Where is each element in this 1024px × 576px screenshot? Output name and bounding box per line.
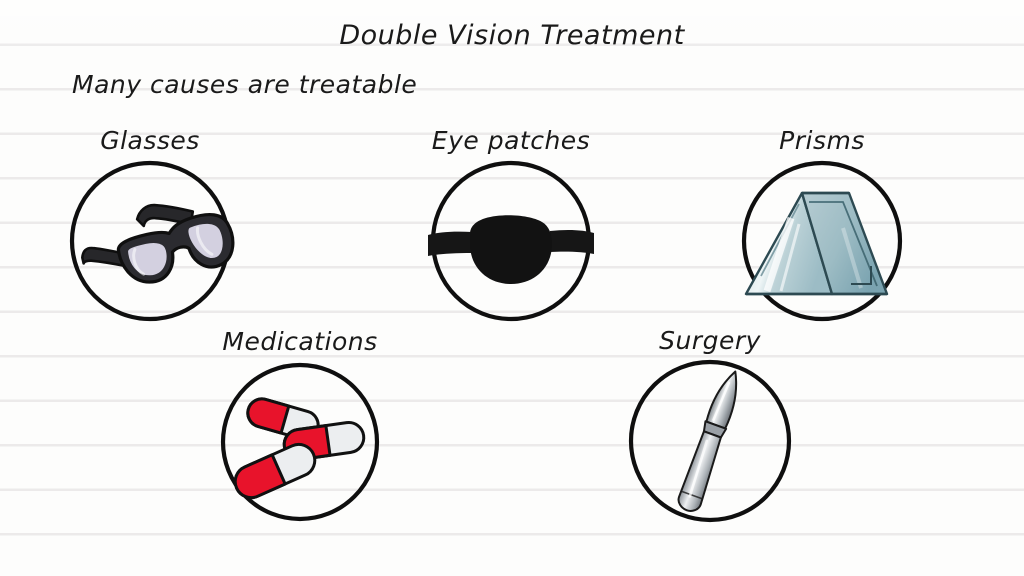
capsule-red-half — [245, 396, 289, 433]
icon-circle-prisms — [739, 158, 905, 324]
treatment-label-prisms: Prisms — [779, 126, 865, 156]
page-subtitle: Many causes are treatable — [72, 70, 417, 100]
page-title: Double Vision Treatment — [0, 20, 1024, 52]
icon-circle-eye-patches — [428, 158, 594, 324]
icon-circle-medications — [217, 359, 383, 525]
scalpel-icon — [675, 368, 748, 514]
icon-circle-glasses — [67, 158, 233, 324]
treatment-label-surgery: Surgery — [659, 326, 761, 356]
patch-body — [470, 215, 552, 284]
capsule-pill-3 — [230, 439, 320, 502]
treatment-label-eye-patches: Eye patches — [432, 126, 590, 156]
treatment-label-glasses: Glasses — [100, 126, 200, 156]
treatment-label-medications: Medications — [222, 327, 377, 357]
left-strap — [428, 232, 472, 256]
sunglasses-icon — [74, 189, 238, 296]
slide-canvas: Double Vision Treatment Many causes are … — [0, 0, 1024, 576]
prism-icon — [746, 193, 887, 294]
icon-circle-surgery — [627, 358, 793, 524]
eye-patch-icon — [428, 215, 594, 284]
capsule-red-half — [230, 455, 285, 503]
scalpel-blade — [706, 368, 745, 429]
right-strap — [550, 230, 594, 254]
scalpel-handle — [676, 431, 725, 514]
